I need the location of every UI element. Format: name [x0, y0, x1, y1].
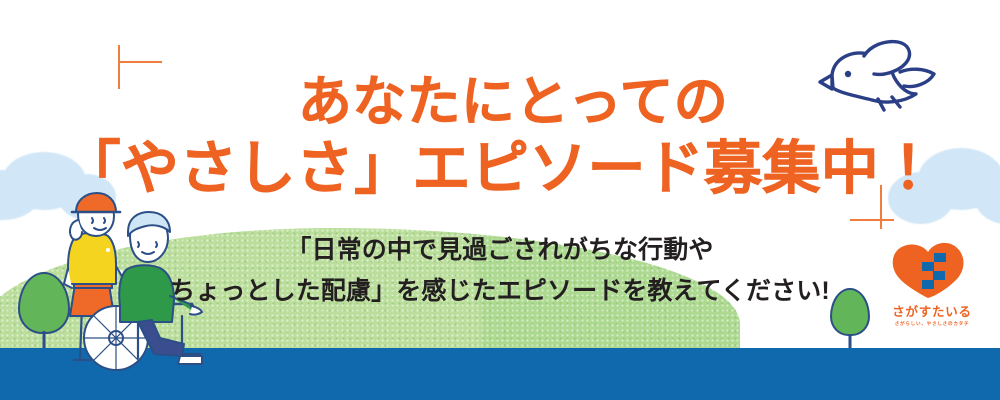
- subtitle-line-1: 「日常の中で見過ごされがちな行動や: [0, 230, 1000, 271]
- headline-line-2: 「やさしさ」エピソード募集中！: [0, 138, 1000, 201]
- campaign-banner: あなたにとっての 「やさしさ」エピソード募集中！ 「日常の中で見過ごされがちな行…: [0, 0, 1000, 400]
- logo-tagline: さがらしい、やさしさのカタチ: [884, 322, 980, 327]
- logo-name: さがすたいる: [884, 306, 980, 319]
- sagastyle-logo[interactable]: さがすたいる さがらしい、やさしさのカタチ: [884, 240, 980, 330]
- headline: あなたにとっての 「やさしさ」エピソード募集中！: [0, 73, 1000, 200]
- heart-s-logo-icon: [884, 240, 980, 300]
- headline-line-1: あなたにとっての: [0, 73, 1000, 131]
- subtitle-line-2: ちょっとした配慮」を感じたエピソードを教えてください!: [0, 271, 1000, 312]
- subtitle: 「日常の中で見過ごされがちな行動や ちょっとした配慮」を感じたエピソードを教えて…: [0, 230, 1000, 311]
